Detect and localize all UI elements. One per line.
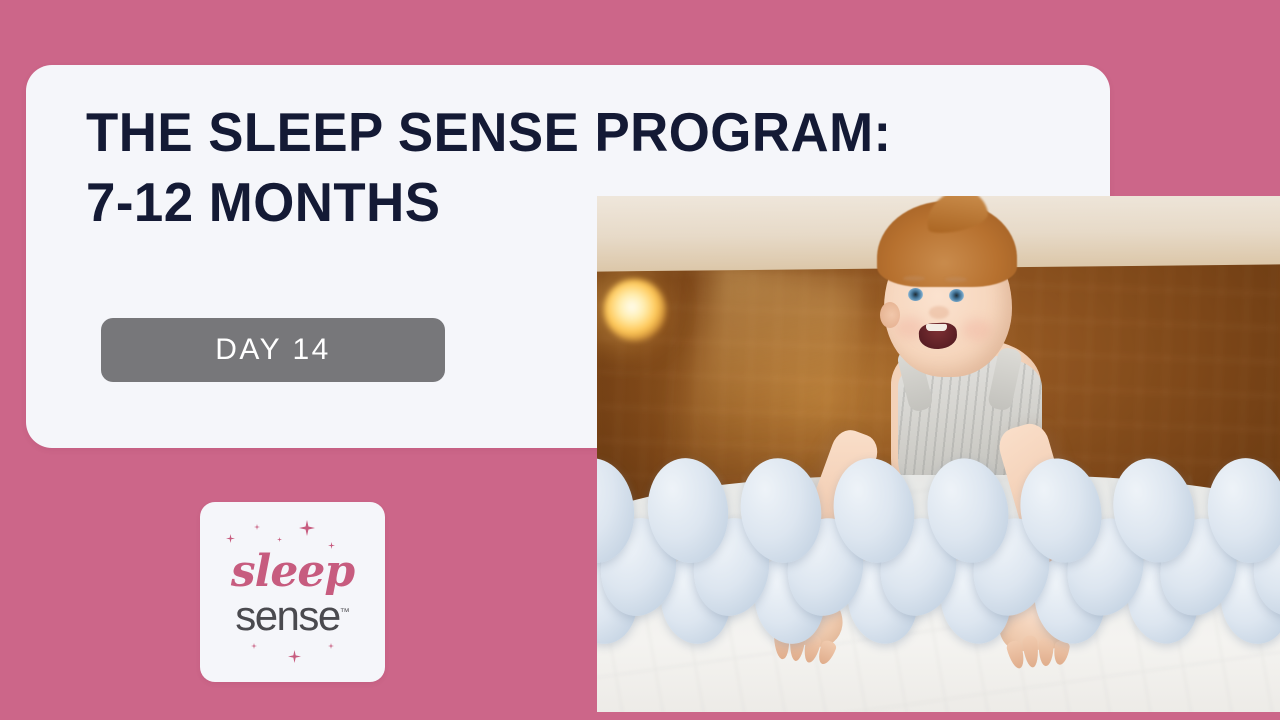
photo-braided-bumper	[597, 454, 1280, 629]
logo-tile: sleep sense™	[200, 502, 385, 682]
baby-finger	[1021, 635, 1040, 669]
logo-wordmark-sense-text: sense	[235, 592, 340, 639]
sparkle-star-icon	[277, 537, 282, 542]
day-badge: DAY 14	[101, 318, 445, 382]
logo-wordmark-sleep: sleep	[200, 550, 385, 594]
sparkle-star-icon	[299, 520, 315, 536]
baby-finger	[1038, 638, 1053, 666]
hero-photo	[597, 196, 1280, 712]
photo-bottom-strip	[597, 712, 1280, 720]
photo-inner	[597, 196, 1280, 712]
sparkle-star-icon	[288, 650, 301, 663]
baby-finger	[1052, 640, 1071, 666]
sparkle-star-icon	[328, 643, 334, 649]
sparkle-star-icon	[254, 524, 260, 530]
slide-root: THE SLEEP SENSE PROGRAM: 7-12 MONTHS DAY…	[0, 0, 1280, 720]
trademark-icon: ™	[340, 607, 350, 618]
logo-wordmark-sense: sense™	[200, 595, 385, 637]
day-badge-label: DAY 14	[215, 333, 331, 367]
sparkle-star-icon	[226, 534, 235, 543]
sparkle-star-icon	[251, 643, 257, 649]
